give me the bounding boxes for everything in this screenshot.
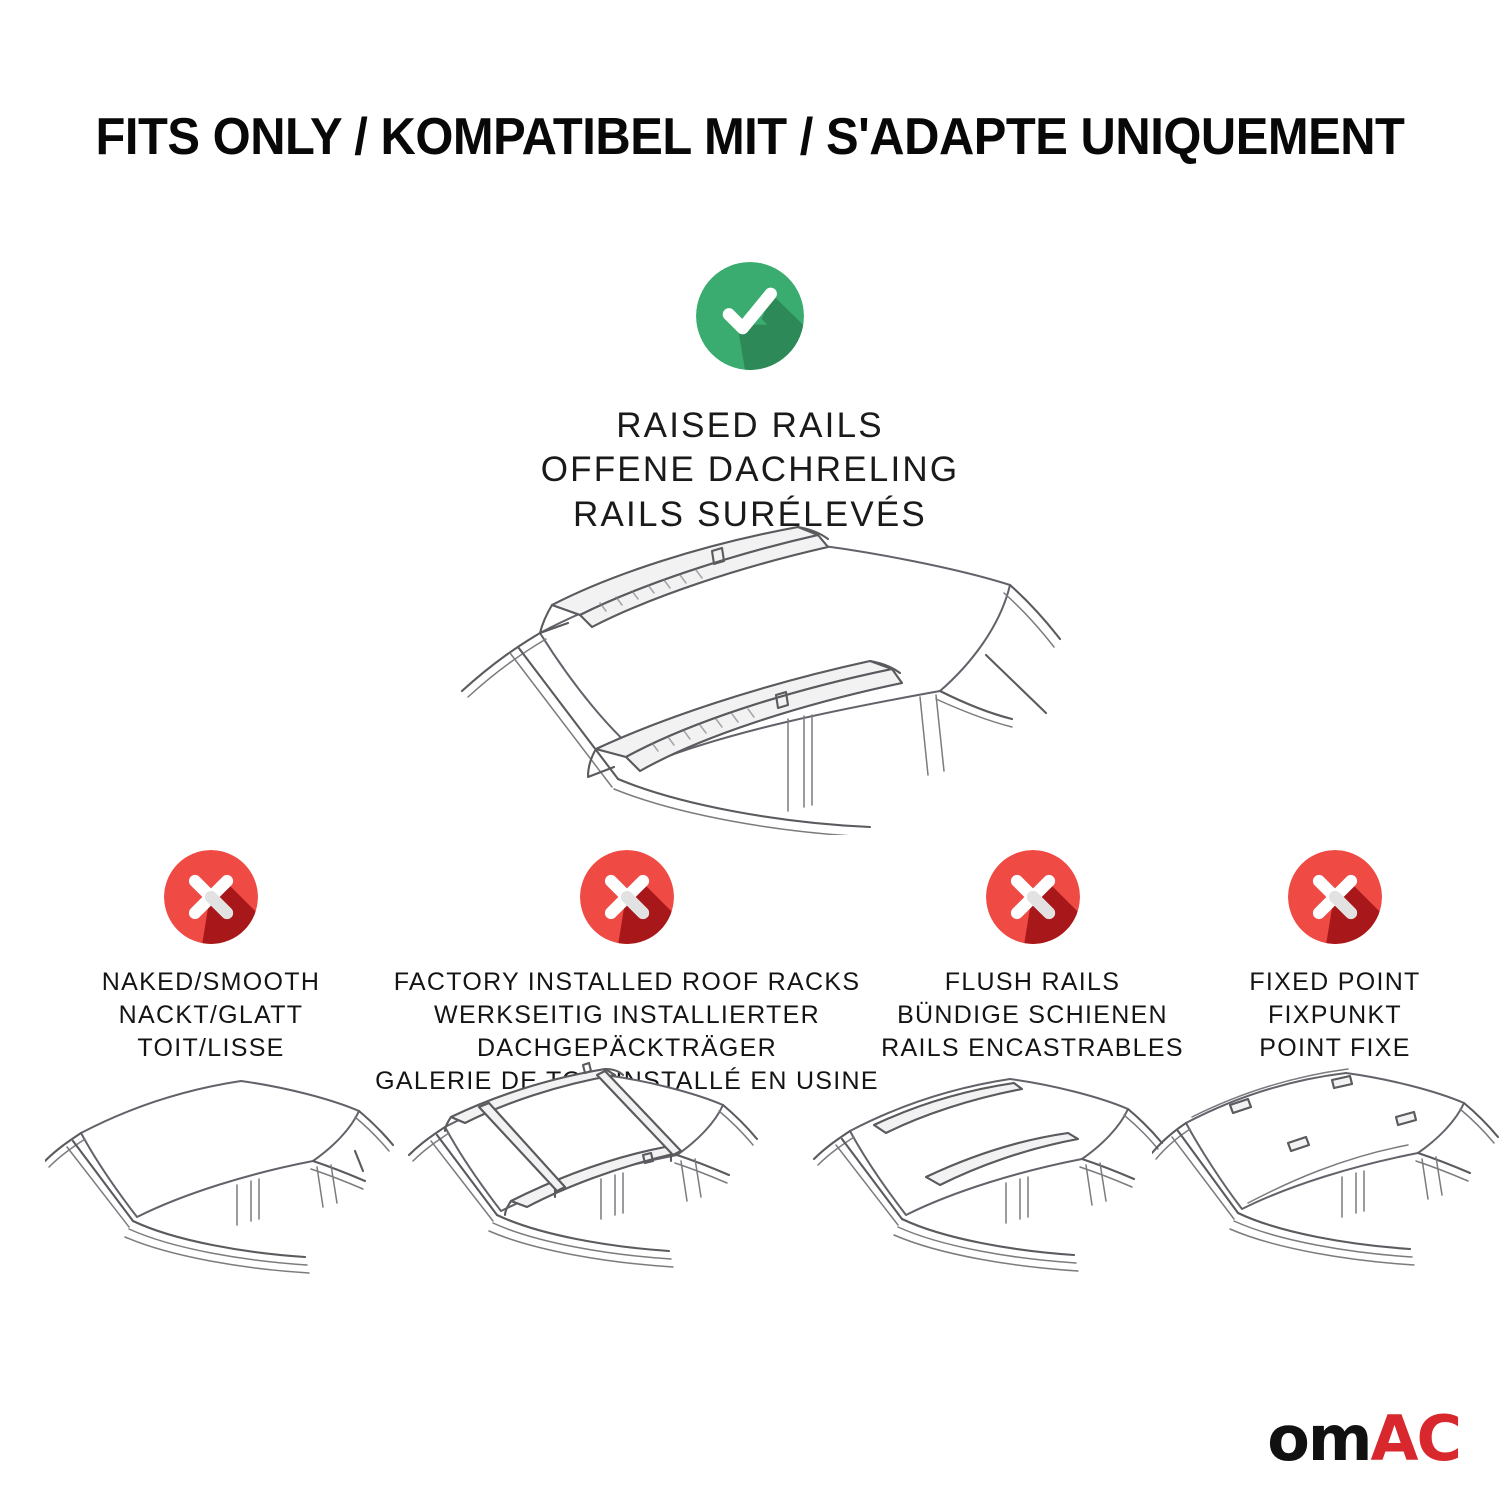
not-compatible-item-naked-smooth: NAKED/SMOOTH NACKT/GLATT TOIT/LISSE	[61, 850, 361, 1065]
label-de: BÜNDIGE SCHIENEN	[881, 999, 1184, 1032]
x-circle-icon	[986, 850, 1080, 944]
label-en: FACTORY INSTALLED ROOF RACKS	[375, 966, 879, 999]
car-roof-naked-smooth-illustration	[45, 1055, 415, 1295]
not-compatible-label-group: NAKED/SMOOTH NACKT/GLATT TOIT/LISSE	[102, 966, 320, 1065]
fits-label-de: OFFENE DACHRELING	[541, 448, 960, 492]
fitment-infographic: FITS ONLY / KOMPATIBEL MIT / S'ADAPTE UN…	[0, 0, 1500, 1500]
label-en: NAKED/SMOOTH	[102, 966, 320, 999]
label-de: NACKT/GLATT	[102, 999, 320, 1032]
car-roof-flush-rails-illustration	[812, 1055, 1182, 1295]
x-circle-icon	[580, 850, 674, 944]
car-roof-factory-roof-racks-illustration	[405, 1055, 775, 1295]
car-roof-raised-rails-illustration	[400, 505, 1100, 835]
label-en: FLUSH RAILS	[881, 966, 1184, 999]
label-en: FIXED POINT	[1249, 966, 1420, 999]
not-compatible-item-fixed-point: FIXED POINT FIXPUNKT POINT FIXE	[1212, 850, 1458, 1065]
logo-part-o: o	[1267, 1402, 1308, 1475]
logo-part-m: m	[1308, 1402, 1371, 1475]
not-compatible-row: NAKED/SMOOTH NACKT/GLATT TOIT/LISSE	[0, 850, 1500, 1060]
car-roof-fixed-point-illustration	[1152, 1055, 1500, 1295]
not-compatible-label-group: FLUSH RAILS BÜNDIGE SCHIENEN RAILS ENCAS…	[881, 966, 1184, 1065]
omac-logo: omAC	[1267, 1408, 1460, 1470]
x-circle-icon	[164, 850, 258, 944]
fits-label-en: RAISED RAILS	[541, 404, 960, 448]
logo-part-ac: AC	[1371, 1402, 1460, 1475]
check-circle-icon	[696, 262, 804, 370]
label-de: FIXPUNKT	[1249, 999, 1420, 1032]
x-circle-icon	[1288, 850, 1382, 944]
not-compatible-label-group: FIXED POINT FIXPUNKT POINT FIXE	[1249, 966, 1420, 1065]
fits-section: RAISED RAILS OFFENE DACHRELING RAILS SUR…	[0, 262, 1500, 537]
page-title: FITS ONLY / KOMPATIBEL MIT / S'ADAPTE UN…	[45, 107, 1455, 167]
not-compatible-item-flush-rails: FLUSH RAILS BÜNDIGE SCHIENEN RAILS ENCAS…	[880, 850, 1185, 1065]
label-de-1: WERKSEITIG INSTALLIERTER	[375, 999, 879, 1032]
